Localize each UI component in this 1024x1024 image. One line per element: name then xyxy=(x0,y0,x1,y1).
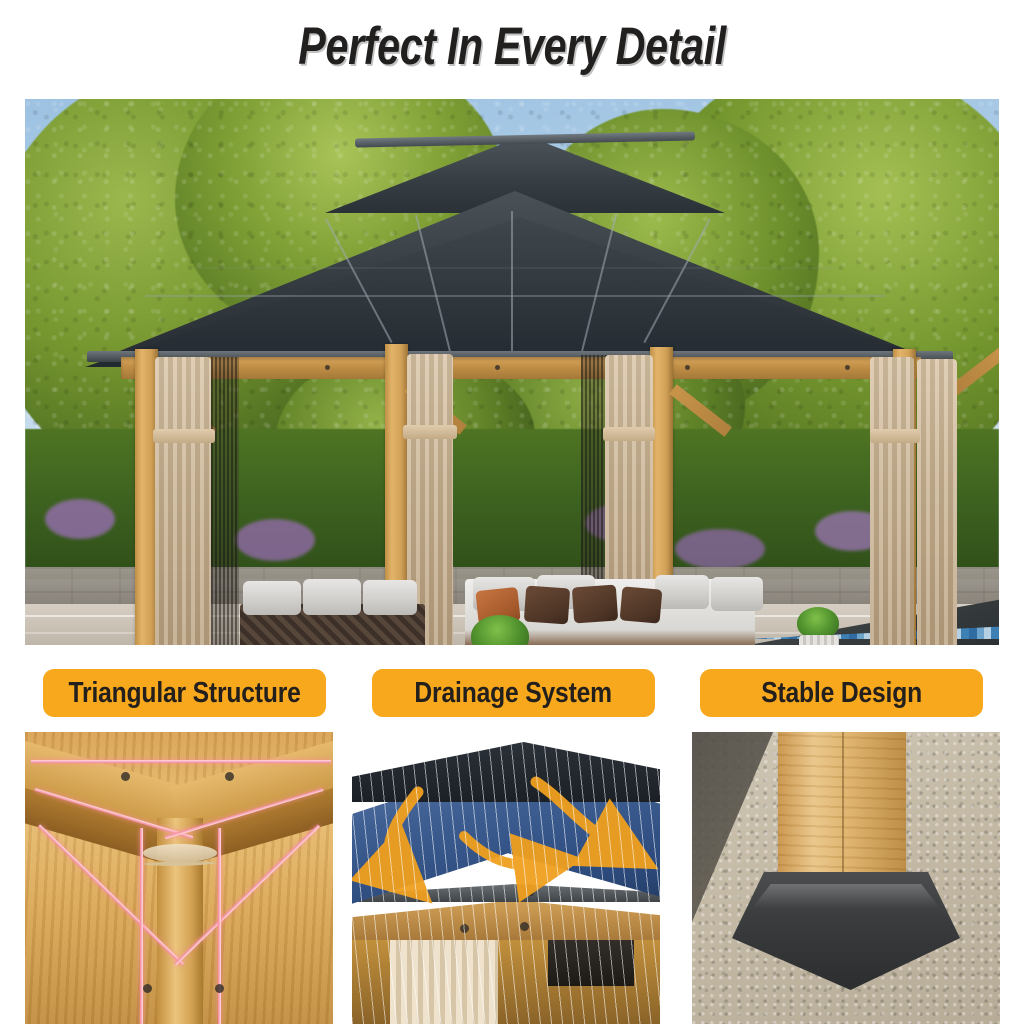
bolt xyxy=(143,984,152,993)
bolt xyxy=(460,924,469,933)
curtain-tieback xyxy=(603,427,655,441)
bolt xyxy=(325,365,330,370)
sofa-cushion xyxy=(303,579,361,615)
bolt xyxy=(225,772,234,781)
bolt xyxy=(495,365,500,370)
bolt xyxy=(685,365,690,370)
accent-pillow xyxy=(572,585,618,624)
flowering-plant xyxy=(675,529,765,569)
hero-image xyxy=(25,99,999,645)
curtain xyxy=(870,357,914,645)
bolt xyxy=(121,772,130,781)
feature-label-text: Drainage System xyxy=(415,677,612,710)
feature-label-drainage-system[interactable]: Drainage System xyxy=(372,669,655,717)
mosquito-netting xyxy=(211,357,239,645)
curtain-tieback xyxy=(870,429,920,443)
feature-label-triangular-structure[interactable]: Triangular Structure xyxy=(43,669,326,717)
feature-label-text: Stable Design xyxy=(761,677,922,710)
feature-label-stable-design[interactable]: Stable Design xyxy=(700,669,983,717)
bolt xyxy=(845,365,850,370)
flowering-plant xyxy=(235,519,315,561)
highlight-line xyxy=(140,828,143,1024)
curtain xyxy=(917,359,957,645)
highlight-line xyxy=(218,828,221,1024)
curtain xyxy=(155,357,211,645)
bolt xyxy=(520,922,529,931)
bolt xyxy=(215,984,224,993)
shaded-interior xyxy=(548,932,634,986)
accent-pillow xyxy=(524,586,570,625)
sofa-cushion xyxy=(243,581,301,615)
curtain-tieback xyxy=(153,429,215,443)
highlight-line xyxy=(31,760,331,763)
flowering-plant xyxy=(45,499,115,539)
feature-image-stable-design xyxy=(692,732,1000,1024)
curtain xyxy=(390,938,498,1024)
roof-rib xyxy=(511,211,513,361)
page-title: Perfect In Every Detail xyxy=(298,16,726,77)
feature-label-text: Triangular Structure xyxy=(68,677,300,710)
roof-band xyxy=(195,267,835,269)
base-highlight xyxy=(752,884,940,908)
curtain-tie xyxy=(143,844,217,862)
header-beam xyxy=(121,357,921,379)
sofa-cushion xyxy=(711,577,763,611)
planter-pot xyxy=(799,635,839,645)
page-title-container: Perfect In Every Detail xyxy=(0,14,1024,78)
roof-band xyxy=(145,295,885,297)
water-flow-arrow-mid xyxy=(452,818,592,908)
product-feature-page: Perfect In Every Detail xyxy=(0,0,1024,1024)
feature-image-triangular-structure xyxy=(25,732,333,1024)
sofa-cushion xyxy=(655,575,709,609)
feature-image-drainage-system xyxy=(352,732,660,1024)
feature-detail-row xyxy=(0,732,1024,1024)
curtain-tieback xyxy=(403,425,457,439)
sofa-cushion xyxy=(363,580,417,615)
feature-label-row: Triangular Structure Drainage System Sta… xyxy=(0,669,1024,721)
accent-pillow xyxy=(620,586,663,623)
